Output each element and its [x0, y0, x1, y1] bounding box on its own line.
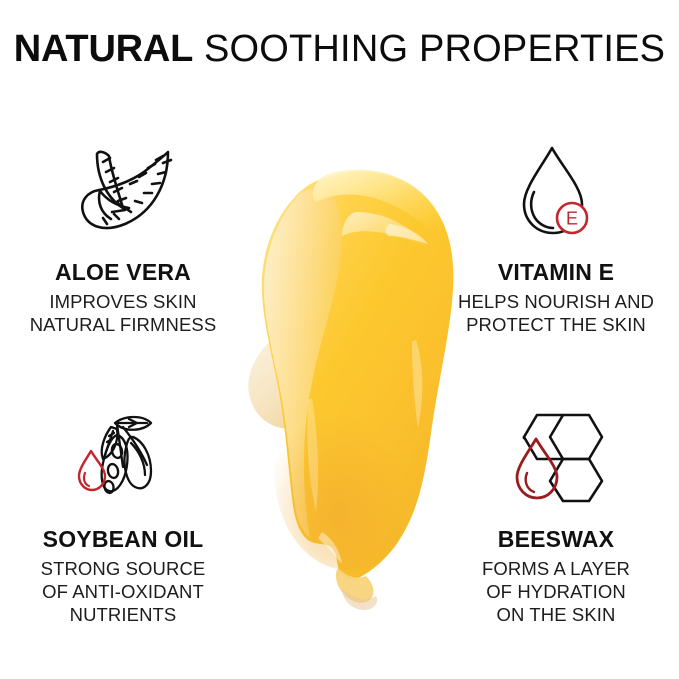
feature-vitamin-e: E VITAMIN E HELPS NOURISH AND PROTECT TH… [441, 140, 671, 336]
feature-title: BEESWAX [441, 525, 671, 553]
feature-soybean-oil: SOYBEAN OIL STRONG SOURCE OF ANTI-OXIDAN… [8, 405, 238, 626]
infographic-page: NATURAL SOOTHING PROPERTIES [0, 0, 679, 679]
droplet-vitamin-e-icon: E [441, 140, 671, 244]
page-title-light: SOOTHING PROPERTIES [193, 28, 665, 70]
feature-description: FORMS A LAYER OF HYDRATION ON THE SKIN [441, 557, 671, 626]
aloe-leaf-icon [8, 140, 238, 244]
feature-description: IMPROVES SKIN NATURAL FIRMNESS [8, 290, 238, 336]
feature-beeswax: BEESWAX FORMS A LAYER OF HYDRATION ON TH… [441, 405, 671, 626]
honeycomb-icon [441, 405, 671, 509]
page-title-bold: NATURAL [14, 28, 193, 70]
vitamin-badge-letter: E [566, 209, 578, 229]
soybean-pod-icon [8, 405, 238, 509]
feature-title: ALOE VERA [8, 258, 238, 286]
feature-description: STRONG SOURCE OF ANTI-OXIDANT NUTRIENTS [8, 557, 238, 626]
feature-title: VITAMIN E [441, 258, 671, 286]
feature-title: SOYBEAN OIL [8, 525, 238, 553]
feature-aloe-vera: ALOE VERA IMPROVES SKIN NATURAL FIRMNESS [8, 140, 238, 336]
feature-description: HELPS NOURISH AND PROTECT THE SKIN [441, 290, 671, 336]
page-title: NATURAL SOOTHING PROPERTIES [0, 26, 679, 72]
